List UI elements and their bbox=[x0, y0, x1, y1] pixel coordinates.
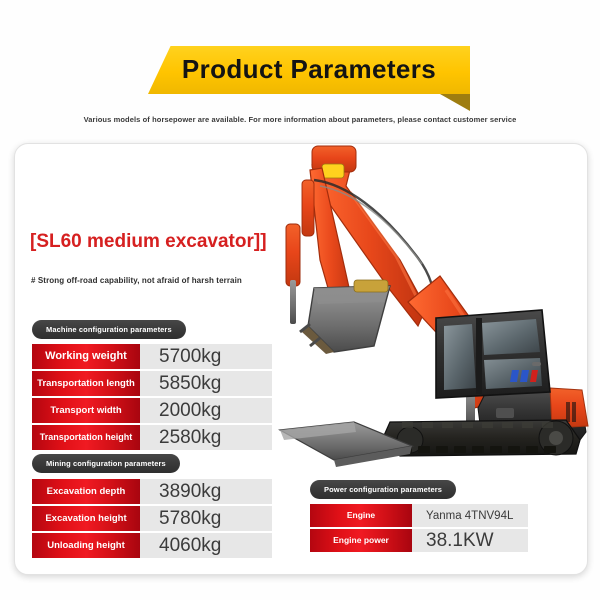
row-value: 38.1KW bbox=[412, 529, 528, 552]
row-value: 5780kg bbox=[140, 506, 272, 531]
row-label: Engine bbox=[310, 504, 412, 527]
row-value: 2000kg bbox=[140, 398, 272, 423]
row-label: Engine power bbox=[310, 529, 412, 552]
table-row: Engine power 38.1KW bbox=[310, 529, 528, 552]
machine-parameters-table: Working weight 5700kg Transportation len… bbox=[32, 344, 272, 452]
banner-ribbon: Product Parameters bbox=[148, 46, 470, 94]
row-label: Excavation height bbox=[32, 506, 140, 531]
row-value: 5700kg bbox=[140, 344, 272, 369]
product-tagline: # Strong off-road capability, not afraid… bbox=[31, 276, 242, 285]
row-label: Transport width bbox=[32, 398, 140, 423]
table-row: Transport width 2000kg bbox=[32, 398, 272, 423]
table-row: Excavation height 5780kg bbox=[32, 506, 272, 531]
excavator-product-image bbox=[250, 140, 600, 470]
row-value: 3890kg bbox=[140, 479, 272, 504]
excavator-tracks bbox=[382, 420, 580, 456]
mining-parameters-table: Excavation depth 3890kg Excavation heigh… bbox=[32, 479, 272, 560]
row-value: Yanma 4TNV94L bbox=[412, 504, 528, 527]
table-row: Transportation length 5850kg bbox=[32, 371, 272, 396]
row-value: 4060kg bbox=[140, 533, 272, 558]
product-parameters-page: Product Parameters Various models of hor… bbox=[0, 0, 600, 600]
row-label: Unloading height bbox=[32, 533, 140, 558]
table-row: Unloading height 4060kg bbox=[32, 533, 272, 558]
row-label: Working weight bbox=[32, 344, 140, 369]
excavator-cab bbox=[436, 310, 550, 398]
header-subtitle: Various models of horsepower are availab… bbox=[0, 115, 600, 124]
header-banner: Product Parameters bbox=[0, 46, 600, 102]
table-row: Transportation height 2580kg bbox=[32, 425, 272, 450]
banner-fold-icon bbox=[440, 94, 470, 111]
row-value: 2580kg bbox=[140, 425, 272, 450]
section-heading-machine: Machine configuration parameters bbox=[32, 320, 186, 339]
row-label: Transportation height bbox=[32, 425, 140, 450]
brand-logo-icon bbox=[510, 370, 538, 382]
row-label: Transportation length bbox=[32, 371, 140, 396]
section-heading-mining: Mining configuration parameters bbox=[32, 454, 180, 473]
section-heading-power: Power configuration parameters bbox=[310, 480, 456, 499]
row-value: 5850kg bbox=[140, 371, 272, 396]
power-parameters-table: Engine Yanma 4TNV94L Engine power 38.1KW bbox=[310, 504, 528, 554]
table-row: Engine Yanma 4TNV94L bbox=[310, 504, 528, 527]
table-row: Excavation depth 3890kg bbox=[32, 479, 272, 504]
table-row: Working weight 5700kg bbox=[32, 344, 272, 369]
page-title: Product Parameters bbox=[182, 56, 436, 82]
excavator-bucket bbox=[300, 280, 390, 354]
product-title: [SL60 medium excavator]] bbox=[30, 231, 267, 253]
row-label: Excavation depth bbox=[32, 479, 140, 504]
